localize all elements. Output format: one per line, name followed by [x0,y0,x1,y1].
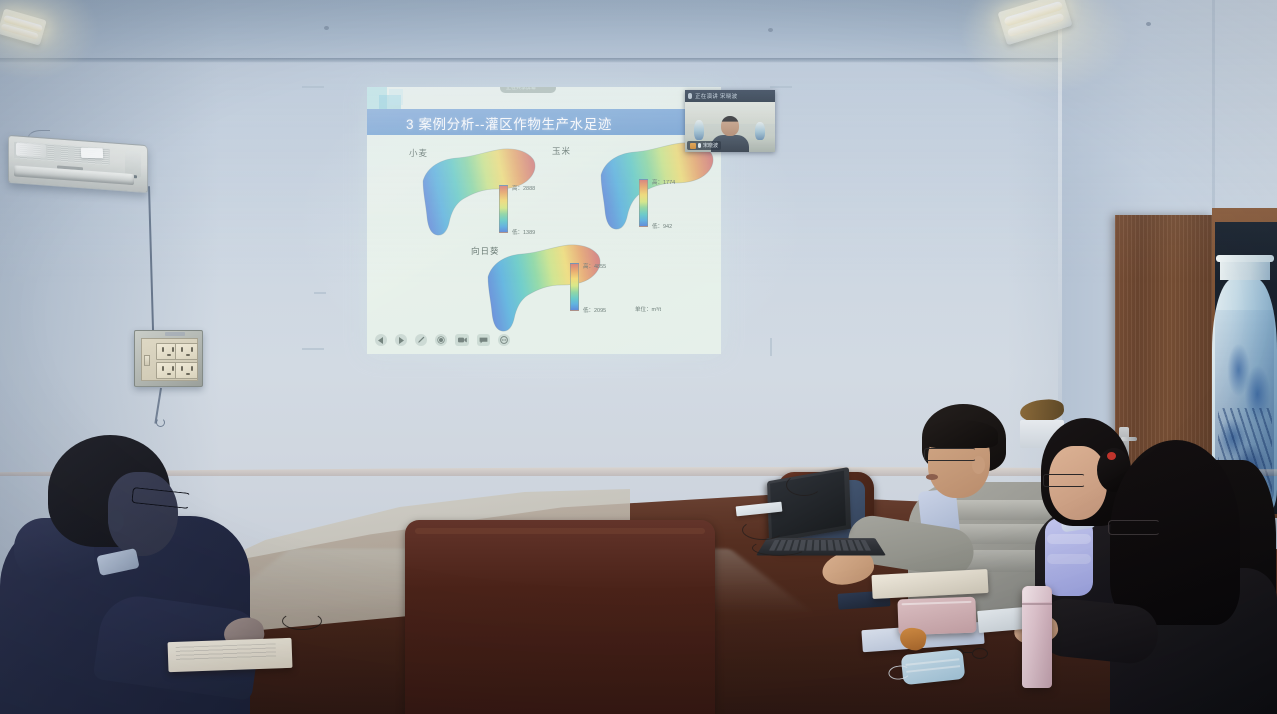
map-sunflower [482,239,604,335]
video-conference-tile[interactable]: 正在演讲 宋晓波 宋晓波 [685,90,775,152]
person-woman-black-hoodie [1110,440,1277,714]
cable [786,474,822,496]
slide-unit-label: 单位：m³/t [635,305,661,313]
presentation-toolbar[interactable] [375,334,510,346]
cable [742,520,784,540]
screen-share-label: 正在共享屏幕 [506,87,536,91]
notebook-left[interactable] [168,638,293,672]
ceiling-sensor-icon [324,26,329,30]
comments-button[interactable] [477,334,490,346]
colorbar-corn-high: 高：1774 [652,178,675,186]
participant-name: 宋晓波 [703,142,718,149]
video-tile-header: 正在演讲 宋晓波 [685,90,775,102]
cable [282,612,322,630]
air-conditioner [8,135,148,193]
slide-title-band: 3 案例分析--灌区作物生产水足迹 [367,109,721,135]
laser-pointer-button[interactable] [435,334,447,346]
thermos-bottle[interactable] [1022,586,1052,688]
conference-room-screenshot: 正在共享屏幕 3 案例分析--灌区作物生产水足迹 小麦 [0,0,1277,714]
colorbar-wheat-high: 高：2888 [512,184,535,192]
person-man-navy-jacket [0,430,330,714]
projected-slide: 正在共享屏幕 3 案例分析--灌区作物生产水足迹 小麦 [367,87,721,354]
colorbar-corn [639,179,648,227]
cable [752,540,806,556]
mic-on-icon [688,93,692,99]
colorbar-wheat-low: 低：1389 [512,228,535,236]
slide-decor-square [389,89,403,105]
map-label-corn: 玉米 [552,145,571,157]
ceiling-sensor-icon [1146,22,1151,26]
more-options-button[interactable] [498,334,510,346]
avatar [690,143,696,149]
share-camera-button[interactable] [455,334,469,346]
eyeglasses-icon [924,448,976,461]
annotate-pen-button[interactable] [415,334,427,346]
colorbar-sunflower-high: 高：4855 [583,262,606,270]
screen-share-indicator: 正在共享屏幕 [500,87,556,93]
wall-seam [1212,0,1215,210]
previous-slide-button[interactable] [375,334,387,346]
slide-title: 3 案例分析--灌区作物生产水足迹 [406,113,612,133]
play-slide-button[interactable] [395,334,407,346]
mic-on-icon [698,143,701,148]
ceiling-sensor-icon [768,28,773,32]
colorbar-sunflower-low: 低：2095 [583,306,606,314]
video-tile-header-label: 正在演讲 宋晓波 [695,92,737,100]
eyeglasses-icon [1043,474,1085,487]
cable-loop [156,418,165,427]
colorbar-sunflower [570,263,579,311]
chair-center-foreground[interactable] [405,520,715,714]
colorbar-corn-low: 低：942 [652,222,672,230]
wall-outlet-panel[interactable] [134,330,203,387]
eyeglasses-icon [1108,520,1160,535]
participant-name-badge: 宋晓波 [687,141,721,150]
colorbar-wheat [499,185,508,233]
